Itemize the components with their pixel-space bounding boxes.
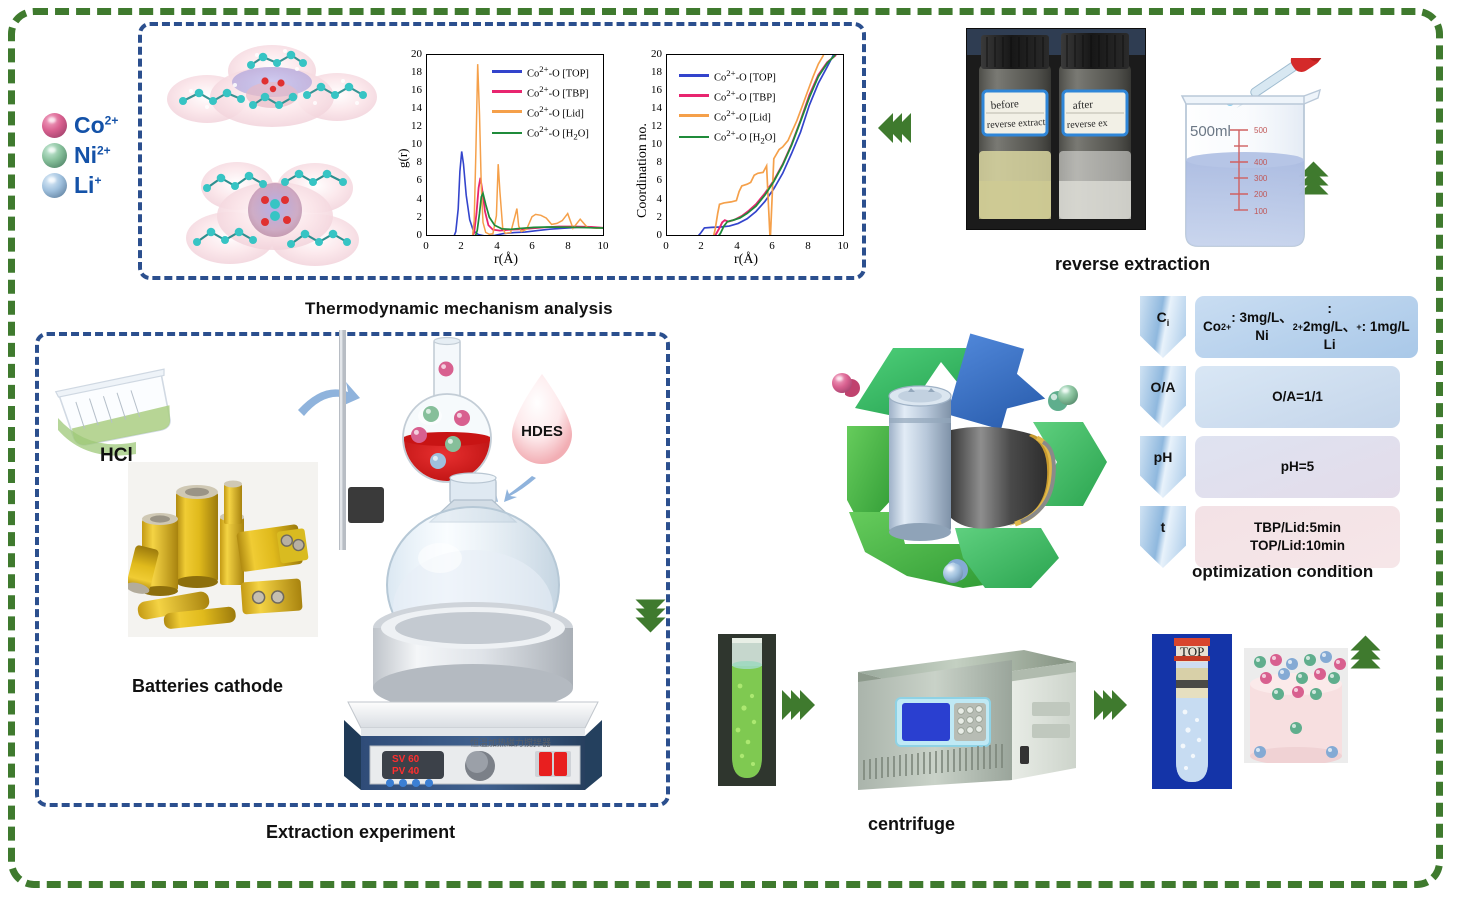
svg-text:before: before (990, 98, 1019, 112)
optimization-key-chevron-ci: Ci (1140, 296, 1186, 358)
svg-text:200: 200 (1254, 190, 1268, 199)
svg-text:reverse ex: reverse ex (1067, 118, 1108, 131)
label-hdes: HDES (521, 423, 563, 440)
svg-text:500ml: 500ml (1190, 123, 1231, 140)
ion-charge-co: 2+ (105, 113, 119, 127)
arrow-left-top (878, 113, 905, 143)
svg-text:500: 500 (1254, 126, 1268, 135)
svg-text:TOP: TOP (1180, 644, 1204, 659)
ion-sphere-bottom-recycle (943, 563, 963, 583)
svg-text:SV 60: SV 60 (392, 754, 420, 765)
molecular-structure-top (165, 35, 380, 145)
vials-photo: before reverse extract after reverse ex (966, 28, 1146, 230)
molecular-structure-bottom (175, 148, 375, 273)
svg-text:400: 400 (1254, 158, 1268, 167)
ion-label-ni: Ni2+ (74, 142, 111, 169)
arrow-up-right-bottom (1351, 642, 1381, 669)
svg-text:100: 100 (1254, 207, 1268, 216)
coordination-ylabel: Coordination no. (635, 123, 651, 218)
caption-extraction-experiment: Extraction experiment (266, 822, 455, 843)
optimization-key-chevron-oa: O/A (1140, 366, 1186, 428)
chart-rdf: 20 18 16 14 12 10 8 6 4 2 0 0 2 4 6 8 10… (382, 42, 617, 270)
optimization-key-chevron-t: t (1140, 506, 1186, 568)
optimization-row-concentration: Ci Co2+: 3mg/L、Ni2+:2mg/L、Li+: 1mg/L (1140, 296, 1400, 358)
chart-coordination: 20 18 16 14 12 10 8 6 4 2 0 0 2 4 6 8 10… (622, 42, 857, 270)
optimization-value-concentration: Co2+: 3mg/L、Ni2+:2mg/L、Li+: 1mg/L (1195, 296, 1418, 358)
ion-sphere-co (42, 113, 67, 138)
centrifuge-illustration (840, 640, 1090, 790)
ion-item-co: Co2+ (42, 112, 118, 139)
optimization-row-ph: pH pH=5 (1140, 436, 1400, 498)
arrow-right-centrifuge-vial (1094, 690, 1121, 720)
round-bottom-flask (386, 336, 516, 486)
rdf-xlabel: r(Å) (494, 252, 518, 268)
hcl-beaker (52, 358, 192, 458)
ion-charge-ni: 2+ (97, 143, 111, 157)
ion-charge-li: + (94, 173, 101, 187)
arrow-right-tube-centrifuge (782, 690, 809, 720)
optimization-value-oa: O/A=1/1 (1195, 366, 1400, 428)
coordination-legend: Co2+-O [TOP] Co2+-O [TBP] Co2+-O [Lid] C… (679, 68, 776, 150)
separated-vial-photo: TOP (1152, 634, 1232, 789)
svg-text:after: after (1072, 99, 1093, 112)
rdf-ylabel: g(r) (395, 149, 411, 169)
optimization-row-time: t TBP/Lid:5min TOP/Lid:10min (1140, 506, 1400, 568)
optimization-key-chevron-ph: pH (1140, 436, 1186, 498)
recycling-battery-graphic (845, 330, 1125, 595)
caption-reverse-extraction: reverse extraction (1055, 254, 1210, 275)
ion-item-ni: Ni2+ (42, 142, 111, 169)
caption-thermodynamic: Thermodynamic mechanism analysis (305, 299, 613, 319)
coordination-xlabel: r(Å) (734, 252, 758, 268)
ion-label-co: Co2+ (74, 112, 118, 139)
optimization-value-ph: pH=5 (1195, 436, 1400, 498)
rdf-legend: Co2+-O [TOP] Co2+-O [TBP] Co2+-O [Lid] C… (492, 64, 589, 146)
batteries-photo (128, 462, 318, 637)
optimization-value-time: TBP/Lid:5min TOP/Lid:10min (1195, 506, 1400, 568)
ion-sphere-left-recycle (832, 373, 852, 393)
ion-sphere-right-recycle (1058, 385, 1078, 405)
caption-optimization-condition: optimization condition (1192, 562, 1373, 582)
ion-item-li: Li+ (42, 172, 101, 199)
green-tube-photo (718, 634, 776, 786)
ion-sphere-li (42, 173, 67, 198)
phase-separation-illustration (1244, 648, 1348, 763)
ion-sphere-ni (42, 143, 67, 168)
hdes-droplet: HDES (500, 372, 584, 472)
caption-batteries-cathode: Batteries cathode (132, 676, 283, 697)
svg-text:PV 40: PV 40 (392, 766, 420, 777)
svg-text:恒温加热磁力搅拌器: 恒温加热磁力搅拌器 (470, 737, 551, 749)
arrow-down-center (636, 600, 666, 627)
optimization-condition-list: Ci Co2+: 3mg/L、Ni2+:2mg/L、Li+: 1mg/L O/A… (1140, 296, 1400, 576)
optimization-row-oa: O/A O/A=1/1 (1140, 366, 1400, 428)
beaker-illustration: 500ml 500400300 200100 (1168, 58, 1328, 258)
ion-label-li: Li+ (74, 172, 101, 199)
svg-text:300: 300 (1254, 174, 1268, 183)
magnetic-stirrer: SV 60 PV 40 恒温加热磁力搅拌器 (330, 470, 615, 800)
caption-centrifuge: centrifuge (868, 814, 955, 835)
